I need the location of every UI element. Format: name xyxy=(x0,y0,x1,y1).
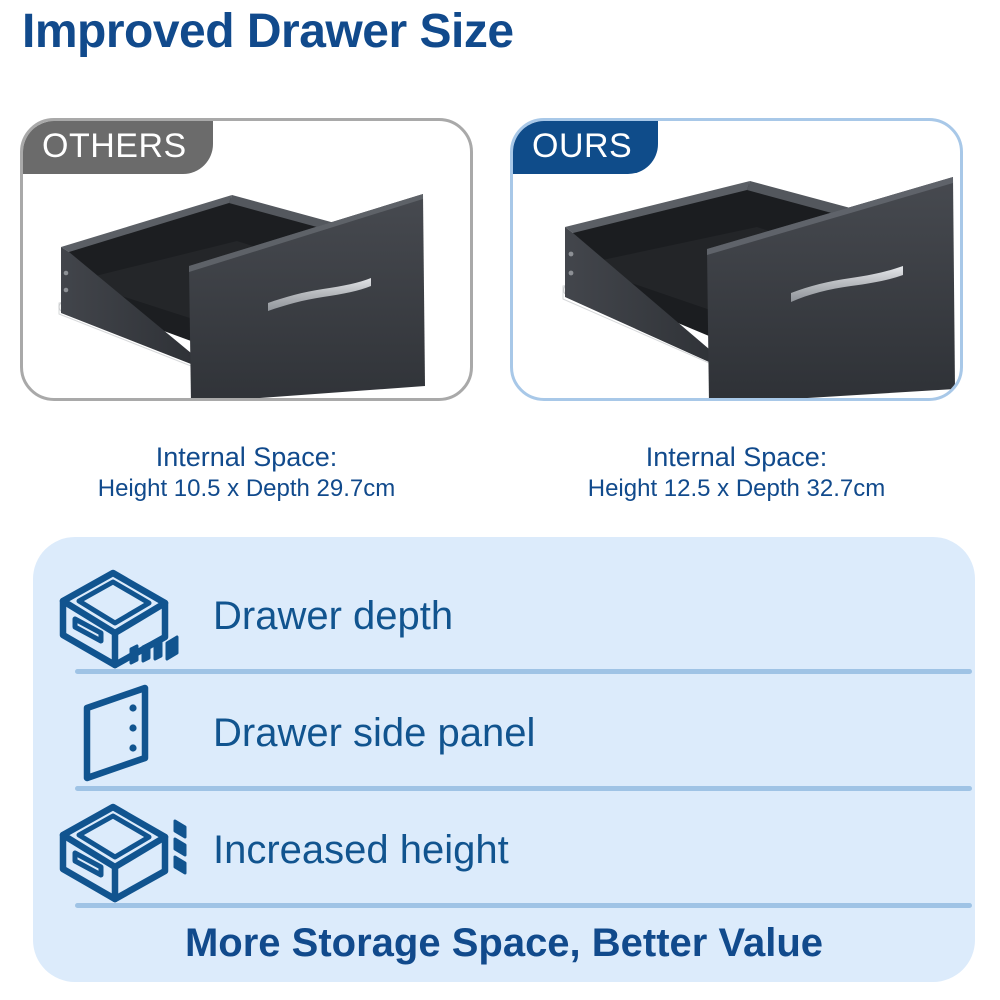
increased-height-icon-glyph xyxy=(55,799,191,903)
badge-others-label: OTHERS xyxy=(42,127,187,166)
drawer-depth-icon xyxy=(33,565,213,669)
infographic-page: Improved Drawer Size xyxy=(0,0,1000,1000)
comparison-panel-others: OTHERS xyxy=(20,118,473,401)
feature-divider-1 xyxy=(75,669,972,674)
feature-label-increased-height: Increased height xyxy=(213,828,509,873)
caption-ours-line2: Height 12.5 x Depth 32.7cm xyxy=(510,474,963,504)
badge-ours: OURS xyxy=(510,118,658,174)
caption-others-line1: Internal Space: xyxy=(20,440,473,474)
feature-card-footer: More Storage Space, Better Value xyxy=(33,921,975,966)
feature-divider-2 xyxy=(75,786,972,791)
badge-ours-label: OURS xyxy=(532,127,632,166)
drawer-side-panel-icon-glyph xyxy=(73,682,173,786)
caption-others-line2: Height 10.5 x Depth 29.7cm xyxy=(20,474,473,504)
comparison-panel-ours: OURS xyxy=(510,118,963,401)
feature-row-drawer-depth: Drawer depth xyxy=(33,565,975,668)
feature-row-drawer-side-panel: Drawer side panel xyxy=(33,682,975,785)
drawer-side-panel-icon xyxy=(33,682,213,786)
feature-row-increased-height: Increased height xyxy=(33,799,975,902)
caption-ours-line1: Internal Space: xyxy=(510,440,963,474)
badge-others: OTHERS xyxy=(20,118,213,174)
feature-label-drawer-side-panel: Drawer side panel xyxy=(213,711,535,756)
feature-label-drawer-depth: Drawer depth xyxy=(213,594,453,639)
increased-height-icon xyxy=(33,799,213,903)
page-title: Improved Drawer Size xyxy=(22,4,514,59)
feature-divider-3 xyxy=(75,903,972,908)
caption-ours: Internal Space: Height 12.5 x Depth 32.7… xyxy=(510,440,963,504)
caption-others: Internal Space: Height 10.5 x Depth 29.7… xyxy=(20,440,473,504)
drawer-depth-icon-glyph xyxy=(55,565,191,669)
feature-card: Drawer depth Drawer side panel xyxy=(33,537,975,982)
